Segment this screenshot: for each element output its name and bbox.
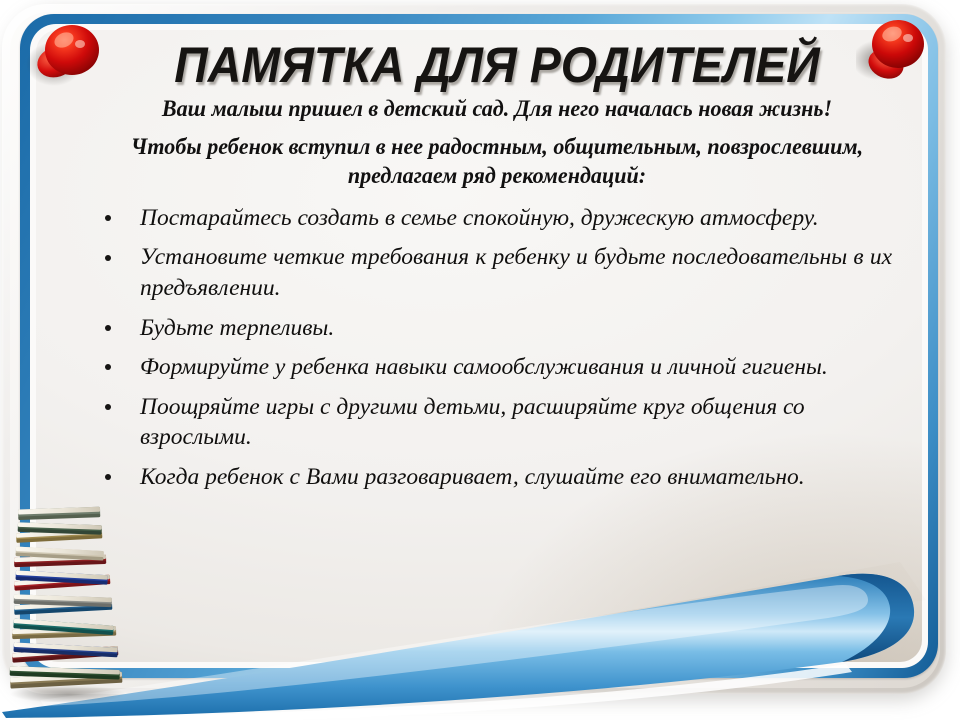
bullet-icon xyxy=(105,325,111,331)
slide-content: ПАМЯТКА ДЛЯ РОДИТЕЛЕЙ Ваш малыш пришел в… xyxy=(36,30,922,662)
bullet-icon xyxy=(105,255,111,261)
bullet-icon xyxy=(105,474,111,480)
list-item: Будьте терпеливы. xyxy=(102,313,892,344)
bullet-icon xyxy=(105,364,111,370)
list-item-text: Формируйте у ребенка навыки самообслужив… xyxy=(140,354,828,380)
page-title: ПАМЯТКА ДЛЯ РОДИТЕЛЕЙ xyxy=(130,34,865,91)
lead-paragraph-2: Чтобы ребенок вступил в нее радостным, о… xyxy=(118,133,876,191)
list-item: Когда ребенок с Вами разговаривает, слуш… xyxy=(102,462,892,493)
list-item: Поощряйте игры с другими детьми, расширя… xyxy=(102,392,892,453)
list-item-text: Когда ребенок с Вами разговаривает, слуш… xyxy=(140,464,805,490)
list-item-text: Постарайтесь создать в семье спокойную, … xyxy=(140,205,819,231)
bullet-icon xyxy=(105,215,111,221)
list-item-text: Будьте терпеливы. xyxy=(140,315,334,341)
list-item: Постарайтесь создать в семье спокойную, … xyxy=(102,203,892,234)
bullet-icon xyxy=(105,404,111,410)
slide-canvas: ПАМЯТКА ДЛЯ РОДИТЕЛЕЙ Ваш малыш пришел в… xyxy=(0,0,960,720)
recommendations-list: Постарайтесь создать в семье спокойную, … xyxy=(102,203,892,492)
list-item-text: Установите четкие требования к ребенку и… xyxy=(140,244,892,301)
lead-paragraph-1: Ваш малыш пришел в детский сад. Для него… xyxy=(118,95,876,124)
list-item-text: Поощряйте игры с другими детьми, расширя… xyxy=(140,394,805,451)
list-item: Формируйте у ребенка навыки самообслужив… xyxy=(102,352,892,383)
list-item: Установите четкие требования к ребенку и… xyxy=(102,242,892,303)
